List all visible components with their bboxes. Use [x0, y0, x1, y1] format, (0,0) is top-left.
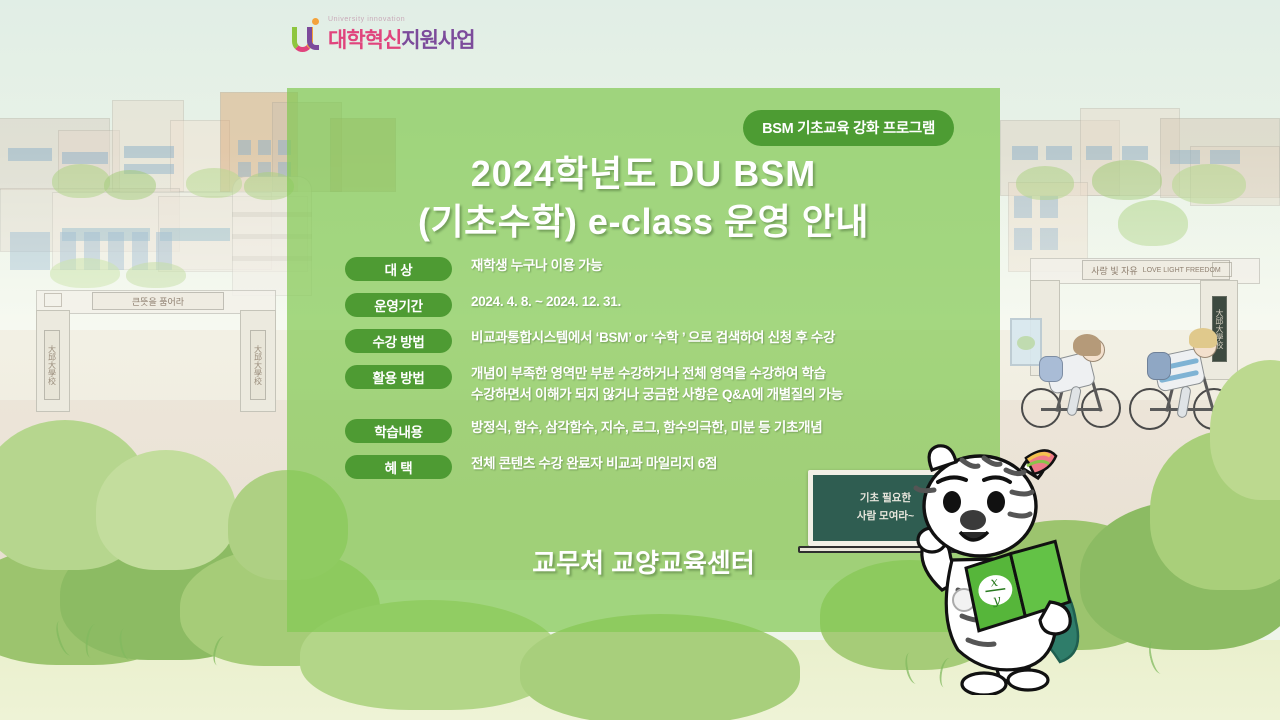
gate-left-plate: 大邱大學校: [250, 330, 266, 400]
university-innovation-logo: University innovation 대학혁신지원사업: [292, 16, 475, 54]
info-value-benefit: 전체 콘텐츠 수강 완료자 비교과 마일리지 6점: [471, 454, 717, 475]
info-value-content: 방정식, 함수, 삼각함수, 지수, 로그, 함수의극한, 미분 등 기초개념: [471, 418, 822, 439]
logo-korean-part1: 대학혁신: [328, 29, 401, 52]
info-label-period: 운영기간: [345, 293, 452, 317]
logo-korean-text: 대학혁신지원사업: [328, 24, 475, 54]
info-rows: 대 상 재학생 누구나 이용 가능 운영기간 2024. 4. 8. ~ 202…: [345, 256, 945, 490]
info-value-usage: 개념이 부족한 영역만 부분 수강하거나 전체 영역을 수강하여 학습 수강하면…: [471, 364, 843, 406]
tiger-mascot: x y: [900, 440, 1130, 695]
gate-left-sign-text: 큰뜻을 품어라: [132, 295, 184, 308]
info-label-enrollment: 수강 방법: [345, 329, 452, 353]
logo-dot: [312, 18, 319, 25]
info-value-period: 2024. 4. 8. ~ 2024. 12. 31.: [471, 292, 621, 313]
gate-left-emblem: [44, 293, 62, 307]
info-value-enrollment: 비교과통합시스템에서 ‘BSM’ or ‘수학 ’ 으로 검색하여 신청 후 수…: [471, 328, 835, 349]
logo-j-shape: [307, 27, 319, 50]
cyclist-backpack: [1147, 352, 1171, 380]
gate-right-sign-en: LOVE LIGHT FREEDOM: [1143, 267, 1221, 274]
info-row-target: 대 상 재학생 누구나 이용 가능: [345, 256, 945, 281]
gate-left-plate: 大邱大學校: [44, 330, 60, 400]
notice-board-graphic: [1017, 336, 1035, 350]
info-row-content: 학습내용 방정식, 함수, 삼각함수, 지수, 로그, 함수의극한, 미분 등 …: [345, 418, 945, 443]
gate-right-sign: 사랑 빛 자유 LOVE LIGHT FREEDOM: [1082, 260, 1230, 280]
bush: [96, 450, 236, 570]
cyclist-hair: [1189, 328, 1217, 348]
info-label-content: 학습내용: [345, 419, 452, 443]
info-row-enrollment: 수강 방법 비교과통합시스템에서 ‘BSM’ or ‘수학 ’ 으로 검색하여 …: [345, 328, 945, 353]
info-label-usage: 활용 방법: [345, 365, 452, 389]
info-value-usage-line1: 개념이 부족한 영역만 부분 수강하거나 전체 영역을 수강하여 학습: [471, 364, 843, 385]
gate-right-sign-kr: 사랑 빛 자유: [1091, 264, 1137, 277]
gate-left-sign: 큰뜻을 품어라: [92, 292, 224, 310]
info-value-usage-line2: 수강하면서 이해가 되지 않거나 궁금한 사항은 Q&A에 개별질의 가능: [471, 385, 843, 406]
tiger-mascot-icon: x y: [900, 440, 1130, 695]
cyclist-hair: [1073, 334, 1101, 356]
gate-right-emblem: [1212, 262, 1232, 277]
uj-logo-icon: [292, 18, 322, 54]
poster-title-line1: 2024학년도 DU BSM: [287, 150, 1000, 198]
info-row-period: 운영기간 2024. 4. 8. ~ 2024. 12. 31.: [345, 292, 945, 317]
poster-title-line2: (기초수학) e-class 운영 안내: [287, 198, 1000, 246]
program-badge: BSM 기초교육 강화 프로그램: [743, 110, 954, 146]
logo-text-group: University innovation 대학혁신지원사업: [328, 16, 475, 54]
gate-left-plate-text: 大邱大學校: [47, 345, 58, 385]
info-label-target: 대 상: [345, 257, 452, 281]
logo-korean-part2: 지원사업: [401, 29, 474, 52]
gate-left-plate-text-2: 大邱大學校: [253, 345, 264, 385]
info-value-target: 재학생 누구나 이용 가능: [471, 256, 603, 277]
poster-title: 2024학년도 DU BSM (기초수학) e-class 운영 안내: [287, 150, 1000, 246]
logo-english-text: University innovation: [328, 16, 475, 23]
info-row-usage: 활용 방법 개념이 부족한 영역만 부분 수강하거나 전체 영역을 수강하여 학…: [345, 364, 945, 406]
cyclist-backpack: [1039, 356, 1063, 382]
info-label-benefit: 혜 택: [345, 455, 452, 479]
